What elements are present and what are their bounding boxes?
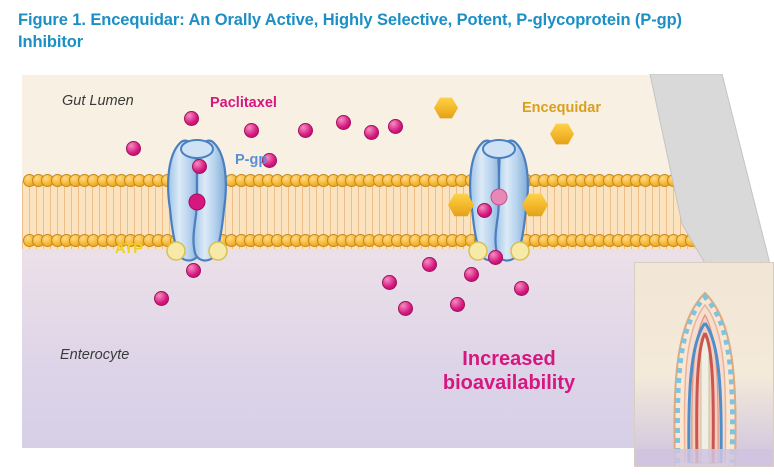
paclitaxel-molecule (154, 291, 169, 306)
lipid-bilayer-top-row (22, 171, 722, 193)
paclitaxel-molecule (244, 123, 259, 138)
paclitaxel-molecule (388, 119, 403, 134)
paclitaxel-molecule (336, 115, 351, 130)
paclitaxel-molecule (298, 123, 313, 138)
paclitaxel-molecule (514, 281, 529, 296)
paclitaxel-molecule (477, 203, 492, 218)
paclitaxel-molecule (184, 111, 199, 126)
intestinal-villus-inset (634, 262, 774, 467)
paclitaxel-molecule (450, 297, 465, 312)
paclitaxel-molecule (364, 125, 379, 140)
pgp-transporter-icon (152, 137, 242, 267)
paclitaxel-molecule (186, 263, 201, 278)
atp-label: ATP (115, 241, 143, 257)
increased-bioavailability-label: Increased bioavailability (414, 347, 604, 396)
paclitaxel-label: Paclitaxel (210, 95, 277, 111)
paclitaxel-molecule (192, 159, 207, 174)
paclitaxel-molecule (382, 275, 397, 290)
pgp-label: P-gp (235, 152, 267, 168)
enterocyte-label: Enterocyte (60, 347, 129, 363)
villus-illustration-icon (635, 263, 774, 467)
encequidar-label: Encequidar (522, 100, 601, 116)
figure-panel: Gut Lumen Enterocyte Paclitaxel Encequid… (22, 75, 722, 448)
paclitaxel-molecule (398, 301, 413, 316)
paclitaxel-molecule (488, 250, 503, 265)
gut-lumen-label: Gut Lumen (62, 93, 134, 109)
paclitaxel-molecule (464, 267, 479, 282)
page-title: Figure 1. Encequidar: An Orally Active, … (18, 10, 748, 54)
paclitaxel-molecule (422, 257, 437, 272)
paclitaxel-molecule (126, 141, 141, 156)
